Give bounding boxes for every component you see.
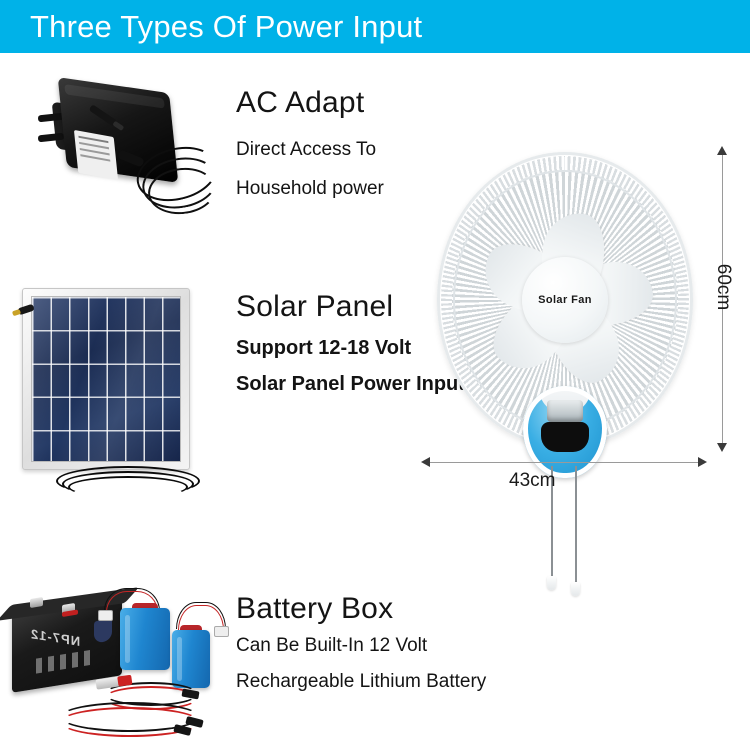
ac-adapter-line-2: Household power [236, 178, 384, 200]
battery-box-line-2: Rechargeable Lithium Battery [236, 671, 486, 693]
fan-control-bezel [523, 386, 607, 478]
infographic-page: Three Types Of Power Input AC Adapt Dire… [0, 0, 750, 750]
battery-box-title: Battery Box [236, 592, 393, 626]
ac-adapter-title-clip: AC Adapt [236, 86, 401, 128]
height-arrow-down-icon [717, 443, 727, 452]
solar-panel-title: Solar Panel [236, 290, 393, 324]
fan-pull-cord-tip [571, 582, 580, 596]
solar-panel-cable [52, 464, 198, 498]
ac-adapter-photo [14, 78, 229, 233]
lithium-pack-connector [98, 610, 113, 621]
fan-pull-cord-tip [547, 576, 556, 590]
adapter-cable [134, 136, 230, 220]
solar-panel-photo [22, 288, 202, 498]
solar-fan-photo: Solar Fan [425, 148, 705, 588]
battery-box-photo: NP7-12 [8, 586, 228, 736]
ac-adapter-title: AC Adapt [236, 86, 364, 120]
battery-terminal-positive [62, 603, 75, 614]
fan-pull-cord [575, 466, 577, 584]
battery-box-line-1: Can Be Built-In 12 Volt [236, 635, 427, 657]
width-dimension-label: 43cm [509, 470, 555, 492]
page-title: Three Types Of Power Input [30, 4, 422, 49]
width-arrow-right-icon [698, 457, 707, 467]
width-arrow-left-icon [421, 457, 430, 467]
lithium-pack-connector [214, 626, 229, 637]
height-arrow-up-icon [717, 146, 727, 155]
lithium-battery-pack [172, 630, 210, 688]
adapter-spec-label [74, 130, 118, 180]
solar-panel-line-1: Support 12-18 Volt [236, 337, 411, 360]
lithium-battery-pack [120, 608, 170, 670]
height-dimension-label: 60cm [712, 264, 734, 310]
solar-panel-cells [31, 296, 181, 462]
ac-adapter-line-1: Direct Access To [236, 139, 376, 161]
width-dimension-line [430, 462, 700, 463]
solar-panel-frame [22, 288, 190, 470]
